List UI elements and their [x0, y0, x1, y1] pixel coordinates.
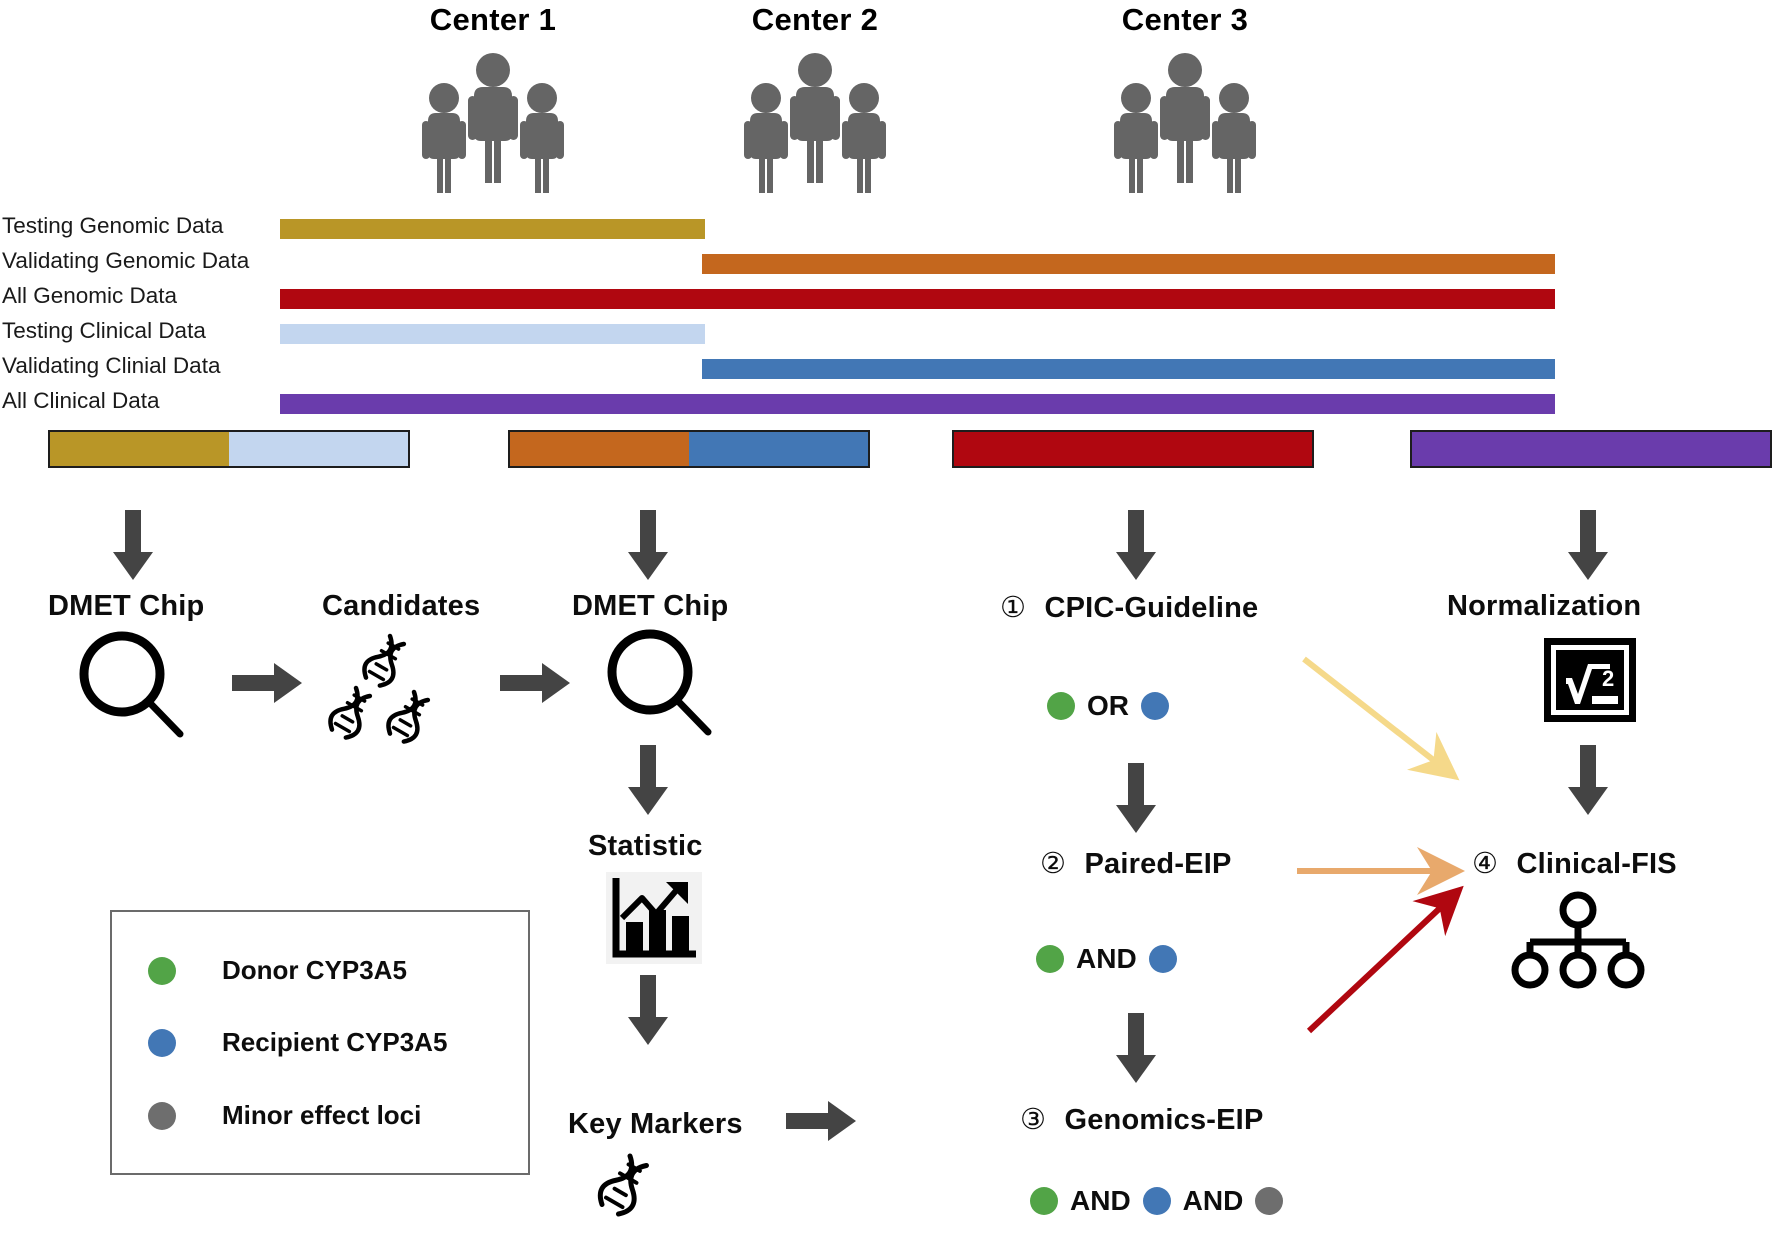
down-arrow-col4	[1565, 510, 1611, 582]
node-label-paired-eip-text: Paired-EIP	[1084, 848, 1231, 880]
legend-item-recipient: Recipient CYP3A5	[148, 1027, 447, 1058]
track-label-validating-genomic: Validating Genomic Data	[2, 248, 249, 274]
magnifier-icon	[72, 630, 192, 740]
logic-row-paired: AND	[1036, 943, 1177, 975]
swatch-part-clinical	[1412, 432, 1770, 466]
down-arrow-normalization-to-fis	[1565, 745, 1611, 817]
node-label-paired-eip: ② Paired-EIP	[1040, 846, 1232, 881]
center-title-1: Center 1	[343, 2, 643, 38]
down-arrow-col1	[110, 510, 156, 582]
logic-row-cpic: OR	[1047, 690, 1169, 722]
down-arrow-col3	[1113, 510, 1159, 582]
track-bar-testing-genomic	[280, 219, 705, 239]
people-group-2	[740, 52, 890, 192]
track-bar-all-genomic	[280, 289, 1555, 309]
node-label-cpic-text: CPIC-Guideline	[1044, 592, 1258, 624]
arrow-cpic-to-fis	[1300, 655, 1480, 795]
swatch-center1-testing	[48, 430, 410, 468]
dna-cluster-icon	[352, 632, 488, 744]
people-group-3	[1110, 52, 1260, 192]
swatch-part-genomic	[50, 432, 229, 466]
donor-dot	[1047, 692, 1075, 720]
people-group-1	[418, 52, 568, 192]
track-bar-validating-clinical	[702, 359, 1555, 379]
swatch-all-genomic	[952, 430, 1314, 468]
down-arrow-col2	[625, 510, 671, 582]
track-bar-testing-clinical	[280, 324, 705, 344]
logic-operator-genomics-2: AND	[1183, 1185, 1244, 1217]
legend-item-donor: Donor CYP3A5	[148, 955, 407, 986]
recipient-dot	[1143, 1187, 1171, 1215]
swatch-part-clinical	[229, 432, 408, 466]
track-bar-all-clinical	[280, 394, 1555, 414]
magnifier-icon	[600, 628, 720, 738]
down-arrow-paired-to-genomics	[1113, 1013, 1159, 1085]
center-title-2: Center 2	[665, 2, 965, 38]
track-label-all-genomic: All Genomic Data	[2, 283, 177, 309]
recipient-dot	[1149, 945, 1177, 973]
hierarchy-icon	[1508, 890, 1648, 990]
node-label-clinical-fis-text: Clinical-FIS	[1516, 848, 1676, 880]
donor-dot	[1030, 1187, 1058, 1215]
logic-row-genomics: AND AND	[1030, 1185, 1283, 1217]
track-label-all-clinical: All Clinical Data	[2, 388, 160, 414]
logic-operator-genomics-1: AND	[1070, 1185, 1131, 1217]
track-bar-validating-genomic	[702, 254, 1555, 274]
arrow-genomics-to-fis	[1295, 876, 1485, 1036]
swatch-part-clinical	[689, 432, 868, 466]
node-label-dmet-chip-mid: DMET Chip	[572, 590, 728, 623]
step-number-2: ②	[1040, 848, 1066, 880]
node-label-key-markers: Key Markers	[568, 1108, 743, 1141]
sqrt-calculator-icon: 2	[1544, 638, 1636, 722]
node-label-clinical-fis: ④ Clinical-FIS	[1472, 846, 1677, 881]
donor-dot	[148, 957, 176, 985]
swatch-center23-validating	[508, 430, 870, 468]
node-label-normalization: Normalization	[1447, 590, 1641, 623]
recipient-dot	[1141, 692, 1169, 720]
node-label-cpic: ① CPIC-Guideline	[1000, 590, 1258, 625]
down-arrow-statistic-to-markers	[625, 975, 671, 1047]
logic-operator-cpic: OR	[1087, 690, 1129, 722]
node-label-genomics-eip-text: Genomics-EIP	[1064, 1104, 1263, 1136]
track-label-testing-clinical: Testing Clinical Data	[2, 318, 206, 344]
recipient-dot	[148, 1029, 176, 1057]
down-arrow-cpic-to-paired	[1113, 763, 1159, 835]
track-label-validating-clinical: Validating Clinial Data	[2, 353, 220, 379]
step-number-1: ①	[1000, 592, 1026, 624]
swatch-part-genomic	[510, 432, 689, 466]
right-arrow-to-candidates	[232, 660, 304, 706]
donor-dot	[1036, 945, 1064, 973]
minor-loci-dot	[1255, 1187, 1283, 1215]
bar-chart-trend-icon	[606, 872, 702, 964]
center-title-3: Center 3	[1035, 2, 1335, 38]
down-arrow-dmet-to-statistic	[625, 745, 671, 817]
node-label-dmet-chip-left: DMET Chip	[48, 590, 204, 623]
svg-text:2: 2	[1602, 666, 1614, 691]
legend-label-donor: Donor CYP3A5	[222, 955, 407, 986]
step-number-3: ③	[1020, 1104, 1046, 1136]
right-arrow-markers-to-genomics	[786, 1098, 858, 1144]
minor-loci-dot	[148, 1102, 176, 1130]
node-label-candidates: Candidates	[322, 590, 480, 623]
dna-icon	[610, 1150, 696, 1240]
legend-item-minor: Minor effect loci	[148, 1100, 421, 1131]
figure-canvas: Center 1 Center 2 Center 3	[0, 0, 1772, 1244]
right-arrow-to-dmet-mid	[500, 660, 572, 706]
node-label-statistic: Statistic	[588, 830, 703, 863]
legend-label-recipient: Recipient CYP3A5	[222, 1027, 447, 1058]
swatch-all-clinical	[1410, 430, 1772, 468]
legend-label-minor: Minor effect loci	[222, 1100, 421, 1131]
track-label-testing-genomic: Testing Genomic Data	[2, 213, 223, 239]
node-label-genomics-eip: ③ Genomics-EIP	[1020, 1102, 1263, 1137]
logic-operator-paired: AND	[1076, 943, 1137, 975]
swatch-part-genomic	[954, 432, 1312, 466]
